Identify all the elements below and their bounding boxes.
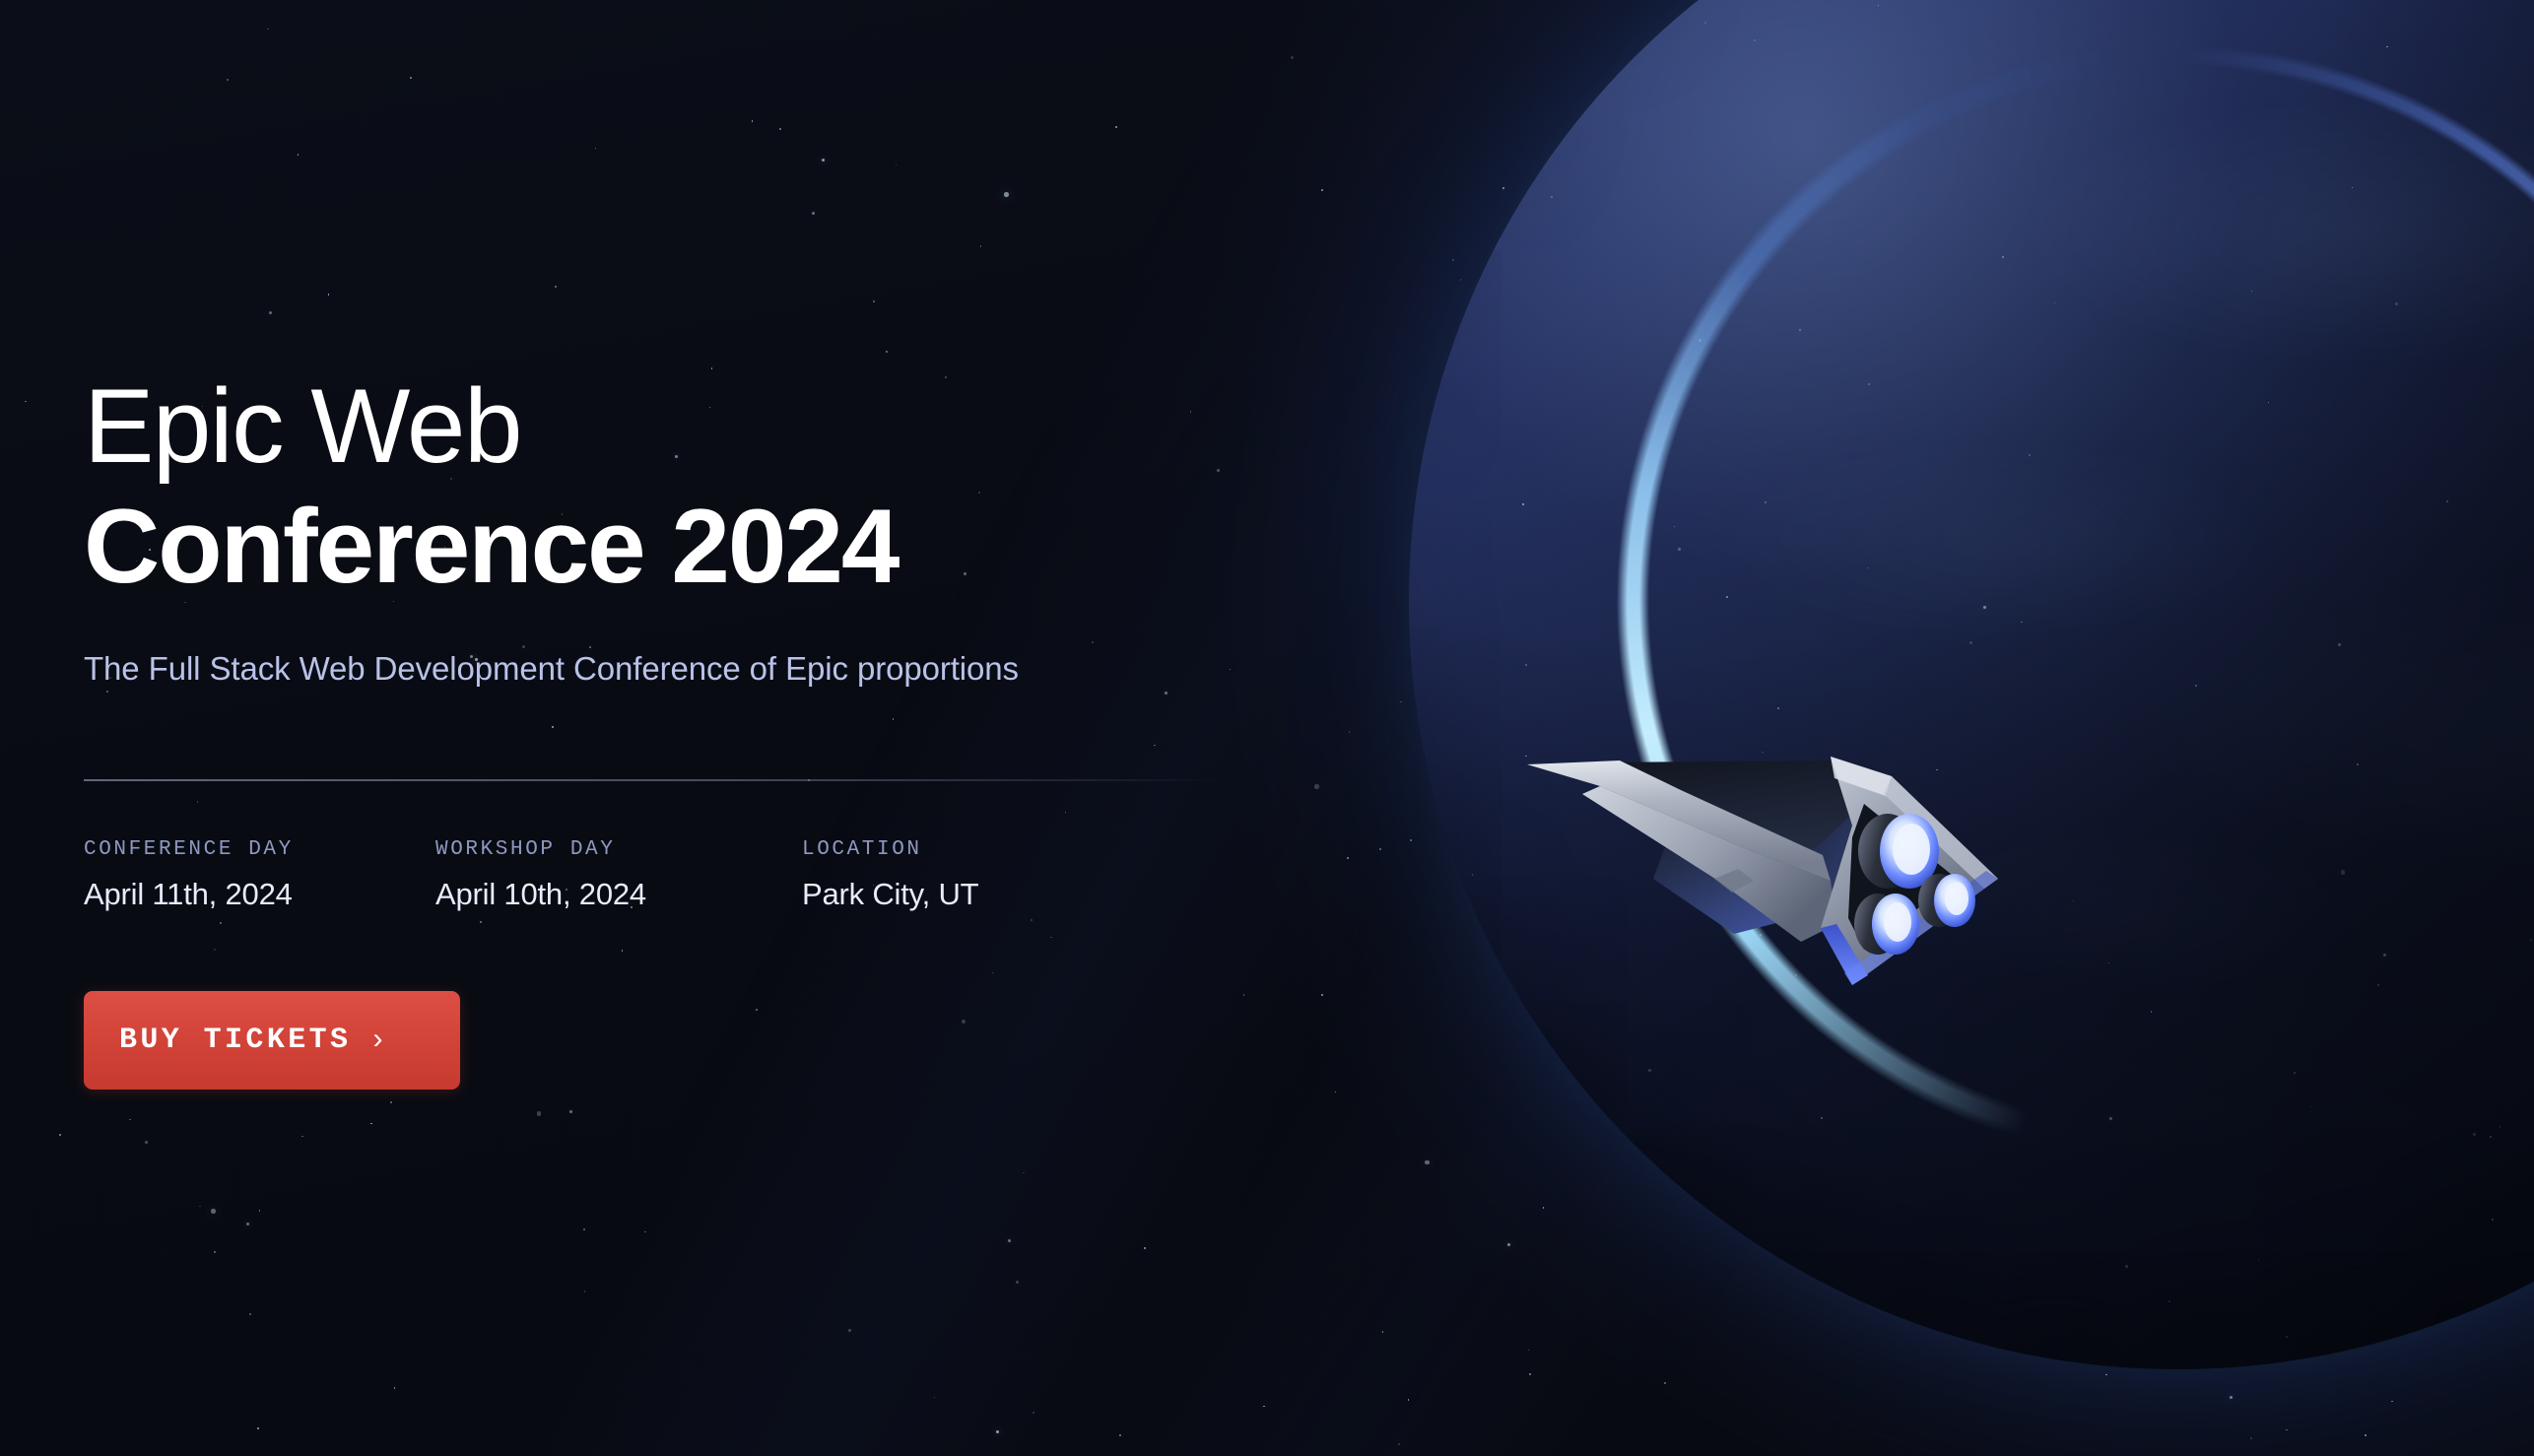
star	[1425, 1160, 1430, 1165]
star	[2341, 613, 2343, 615]
star	[1379, 848, 1381, 850]
star	[1347, 857, 1349, 859]
buy-tickets-button[interactable]: BUY TICKETS ›	[84, 991, 460, 1090]
star	[2484, 1000, 2485, 1001]
chevron-right-icon: ›	[372, 1025, 382, 1054]
star	[2427, 1114, 2429, 1116]
detail-value: Park City, UT	[802, 877, 978, 912]
detail-value: April 11th, 2024	[84, 877, 435, 912]
star	[2226, 1046, 2231, 1051]
star	[1349, 731, 1350, 732]
detail-label: WORKSHOP DAY	[435, 838, 802, 861]
title-line-2: Conference 2024	[84, 487, 1325, 607]
star	[1400, 701, 1401, 702]
star	[2225, 833, 2226, 834]
star	[1959, 669, 1960, 670]
star	[2086, 178, 2087, 179]
star	[1700, 15, 1701, 17]
detail-value: April 10th, 2024	[435, 877, 802, 912]
star	[59, 1134, 61, 1136]
spaceship-icon	[1505, 731, 2018, 1036]
detail-label: LOCATION	[802, 838, 978, 861]
star	[1655, 102, 1658, 105]
star	[2358, 1218, 2363, 1223]
star	[2105, 1374, 2106, 1375]
star	[1814, 338, 1817, 341]
star	[2069, 1137, 2070, 1138]
star	[1987, 328, 1990, 331]
detail-location: LOCATION Park City, UT	[802, 838, 978, 912]
star	[1619, 265, 1622, 268]
star	[2203, 1228, 2206, 1231]
star	[2176, 32, 2179, 34]
star	[2499, 738, 2500, 739]
star	[2365, 1434, 2367, 1436]
star	[1476, 719, 1479, 722]
content-divider	[84, 779, 1222, 781]
star	[1460, 279, 1461, 280]
star	[1398, 1443, 1400, 1445]
star	[2451, 362, 2454, 364]
star	[2274, 714, 2277, 717]
star	[2230, 1396, 2233, 1399]
star	[1543, 1207, 1544, 1208]
star	[1924, 364, 1926, 366]
detail-conference-day: CONFERENCE DAY April 11th, 2024	[84, 838, 435, 912]
star	[1643, 1121, 1645, 1123]
star	[1568, 707, 1570, 709]
star	[1664, 1382, 1666, 1384]
star	[1528, 1350, 1529, 1351]
star	[2229, 913, 2231, 915]
star	[2303, 90, 2304, 91]
star	[2118, 864, 2119, 865]
star	[2402, 741, 2404, 743]
buy-tickets-label: BUY TICKETS	[119, 1024, 351, 1057]
page-title: Epic Web Conference 2024	[84, 366, 1325, 607]
star	[1961, 323, 1966, 328]
star	[2253, 558, 2254, 559]
hero-content: Epic Web Conference 2024 The Full Stack …	[84, 0, 1325, 1456]
star	[2448, 915, 2450, 917]
star	[2097, 516, 2099, 518]
star	[1967, 470, 1968, 472]
detail-label: CONFERENCE DAY	[84, 838, 435, 861]
star	[2172, 364, 2173, 365]
title-line-1: Epic Web	[84, 366, 1325, 487]
star	[2105, 608, 2106, 609]
star	[1410, 839, 1412, 841]
star	[2135, 608, 2136, 609]
star	[1887, 640, 1888, 641]
star	[2138, 23, 2139, 24]
star	[2375, 152, 2376, 153]
star	[2408, 595, 2411, 598]
star	[1529, 1373, 1530, 1374]
star	[1439, 548, 1441, 550]
star	[1408, 1399, 1409, 1400]
star	[2278, 234, 2279, 235]
star	[2391, 1401, 2392, 1402]
star	[1614, 1116, 1615, 1117]
star	[1518, 602, 1519, 603]
star	[1335, 1092, 1336, 1092]
star	[1452, 259, 1454, 261]
star	[2386, 151, 2389, 154]
star	[2314, 388, 2316, 390]
star	[1382, 1331, 1383, 1332]
star	[2286, 1429, 2287, 1430]
event-details: CONFERENCE DAY April 11th, 2024 WORKSHOP…	[84, 838, 1325, 912]
star	[1425, 529, 1427, 531]
detail-workshop-day: WORKSHOP DAY April 10th, 2024	[435, 838, 802, 912]
star	[2161, 8, 2162, 9]
hero-subtitle: The Full Stack Web Development Conferenc…	[84, 650, 1325, 688]
star	[2228, 248, 2230, 250]
star	[1883, 348, 1886, 351]
star	[2437, 182, 2438, 183]
star	[1507, 1243, 1510, 1246]
star	[1502, 187, 1504, 189]
star	[2019, 1022, 2020, 1023]
star	[1846, 562, 1847, 563]
hero-section: Epic Web Conference 2024 The Full Stack …	[0, 0, 2534, 1456]
star	[2053, 1244, 2055, 1246]
star	[2524, 527, 2526, 529]
star	[25, 401, 26, 402]
star	[2122, 566, 2125, 569]
star	[2489, 126, 2490, 127]
star	[1581, 236, 1582, 237]
star	[2250, 1437, 2252, 1439]
star	[1669, 1068, 1671, 1070]
star	[2432, 560, 2434, 562]
star	[2025, 246, 2028, 249]
